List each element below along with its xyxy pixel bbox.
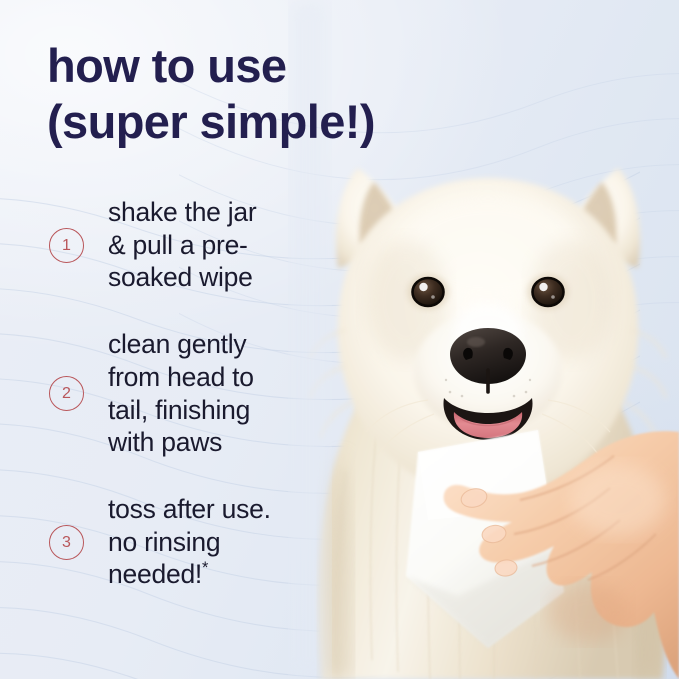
step-text-3-body: toss after use. no rinsing needed!: [108, 494, 271, 589]
step-number-badge-3: 3: [49, 525, 84, 560]
dog-right-eye: [527, 274, 569, 310]
product-infographic: how to use (super simple!) 1 shake the j…: [0, 0, 679, 679]
step-number-badge-2: 2: [49, 376, 84, 411]
list-item: 1 shake the jar & pull a pre- soaked wip…: [0, 196, 330, 294]
dog-left-eye: [407, 274, 449, 310]
list-item: 3 toss after use. no rinsing needed!*: [0, 493, 330, 591]
list-item: 2 clean gently from head to tail, finish…: [0, 328, 330, 459]
step-text-2: clean gently from head to tail, finishin…: [108, 328, 254, 459]
steps-list: 1 shake the jar & pull a pre- soaked wip…: [0, 196, 330, 591]
step-number-badge-1: 1: [49, 228, 84, 263]
page-title: how to use (super simple!): [47, 38, 375, 150]
step-text-3: toss after use. no rinsing needed!*: [108, 493, 271, 591]
step-text-1: shake the jar & pull a pre- soaked wipe: [108, 196, 256, 294]
footnote-marker: *: [202, 560, 208, 578]
